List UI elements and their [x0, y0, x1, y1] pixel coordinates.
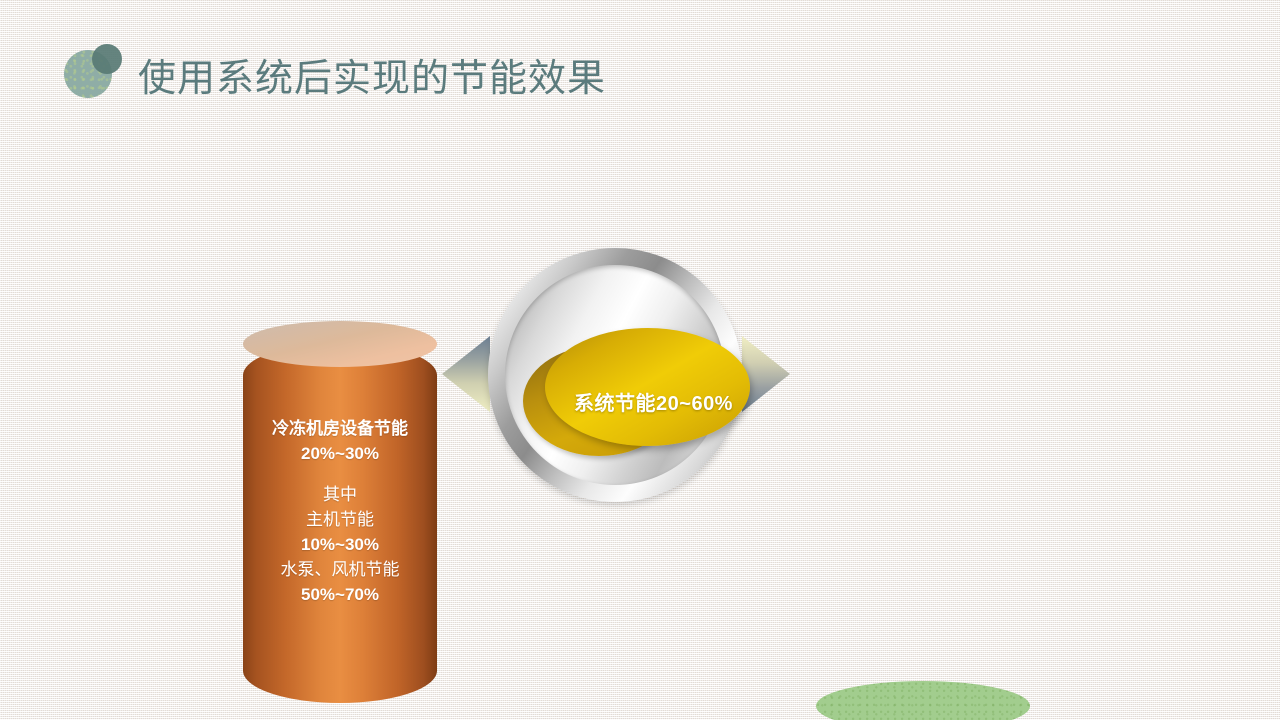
left-cylinder-line-6: 水泵、风机节能: [243, 557, 437, 582]
center-emblem: 系统节能20~60%: [488, 248, 742, 502]
left-cylinder-line-1: 20%~30%: [243, 441, 437, 466]
left-cylinder-line-5: 10%~30%: [243, 532, 437, 557]
slide-canvas: 使用系统后实现的节能效果 冷冻机房设备节能20%~30%其中主机节能10%~30…: [0, 0, 1280, 720]
emblem-ellipse-front: 系统节能20~60%: [545, 328, 750, 446]
left-cylinder-line-7: 50%~70%: [243, 582, 437, 607]
left-cylinder-line-4: 主机节能: [243, 507, 437, 532]
left-cylinder-spacer: [243, 466, 437, 482]
left-cylinder: 冷冻机房设备节能20%~30%其中主机节能10%~30%水泵、风机节能50%~7…: [243, 343, 437, 703]
left-cylinder-text: 冷冻机房设备节能20%~30%其中主机节能10%~30%水泵、风机节能50%~7…: [243, 416, 437, 607]
emblem-outer-ring: 系统节能20~60%: [488, 248, 742, 502]
left-cylinder-top-ellipse: [243, 321, 437, 367]
right-cylinder: 末端设备节能（风机盘管、组合式空气处理机组）15%~30%: [816, 705, 1030, 720]
right-cylinder-top-ellipse: [816, 681, 1030, 720]
left-cylinder-line-3: 其中: [243, 482, 437, 507]
emblem-label: 系统节能20~60%: [574, 387, 733, 416]
arrow-left-icon: [442, 336, 490, 412]
left-cylinder-line-0: 冷冻机房设备节能: [243, 416, 437, 441]
page-title: 使用系统后实现的节能效果: [138, 52, 606, 106]
arrow-right-icon: [742, 336, 790, 412]
emblem-inner-disc: 系统节能20~60%: [505, 265, 725, 485]
logo-mark: [64, 44, 136, 100]
logo-circle-small-icon: [92, 44, 122, 74]
slide-header: 使用系统后实现的节能效果: [0, 0, 1280, 140]
